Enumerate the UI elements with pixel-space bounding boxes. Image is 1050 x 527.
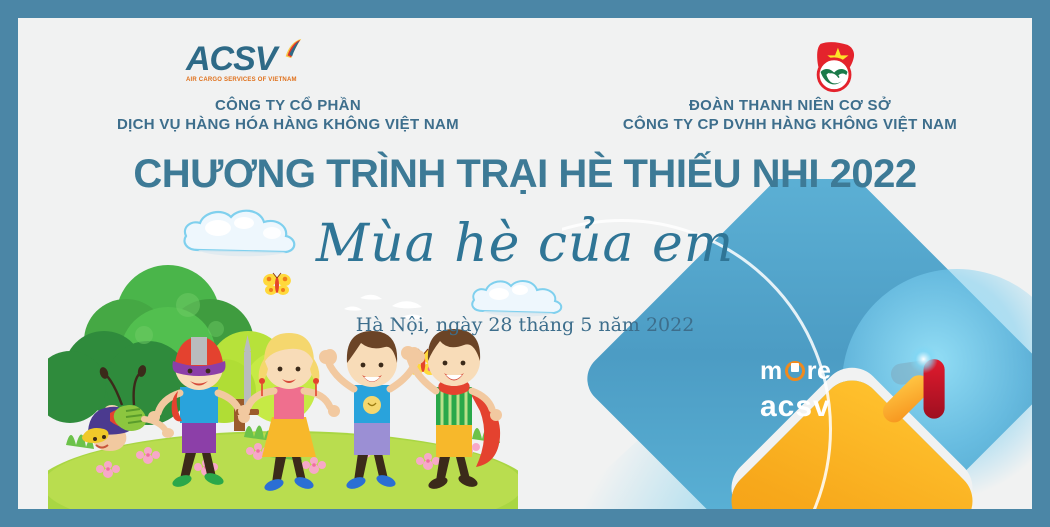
more-acsv-text: m re acsv: [760, 352, 831, 426]
light-blue-wedge: [562, 319, 772, 509]
acsv-flag-swoosh-icon: [282, 38, 304, 60]
more-prefix: m: [760, 352, 783, 390]
left-org-line-2: DỊCH VỤ HÀNG HÓA HÀNG KHÔNG VIỆT NAM: [28, 115, 548, 134]
acsv-logo: ACSV AIR CARGO SERVICES OF VIETNAM: [186, 42, 310, 92]
ho-chi-minh-communist-youth-union-emblem-icon: [805, 40, 867, 94]
right-org-line-1: ĐOÀN THANH NIÊN CƠ SỞ: [548, 96, 1032, 115]
acsv-tagline: AIR CARGO SERVICES OF VIETNAM: [186, 77, 310, 83]
banner-frame: m re acsv: [0, 0, 1050, 527]
page-title: CHƯƠNG TRÌNH TRẠI HÈ THIẾU NHI 2022: [18, 152, 1032, 197]
right-organization-name: ĐOÀN THANH NIÊN CƠ SỞ CÔNG TY CP DVHH HÀ…: [548, 96, 1032, 134]
orange-ring-icon: [785, 361, 805, 381]
right-org-line-2: CÔNG TY CP DVHH HÀNG KHÔNG VIỆT NAM: [548, 115, 1032, 134]
script-subtitle: Mùa hè của em: [18, 214, 1032, 274]
more-acsv-arrow-glyph-icon: [864, 338, 960, 434]
five-children-holding-hands-illustration: [48, 259, 518, 509]
acsv-word: acsv: [760, 388, 831, 426]
dateline: Hà Nội, ngày 28 tháng 5 năm 2022: [18, 314, 1032, 336]
left-org-line-1: CÔNG TY CỔ PHẦN: [28, 96, 548, 115]
banner-canvas: m re acsv: [18, 18, 1032, 509]
left-organization-name: CÔNG TY CỔ PHẦN DỊCH VỤ HÀNG HÓA HÀNG KH…: [28, 96, 548, 134]
more-suffix: re: [807, 352, 832, 390]
more-word: m re: [760, 352, 831, 390]
more-acsv-logo: m re acsv: [760, 348, 950, 434]
